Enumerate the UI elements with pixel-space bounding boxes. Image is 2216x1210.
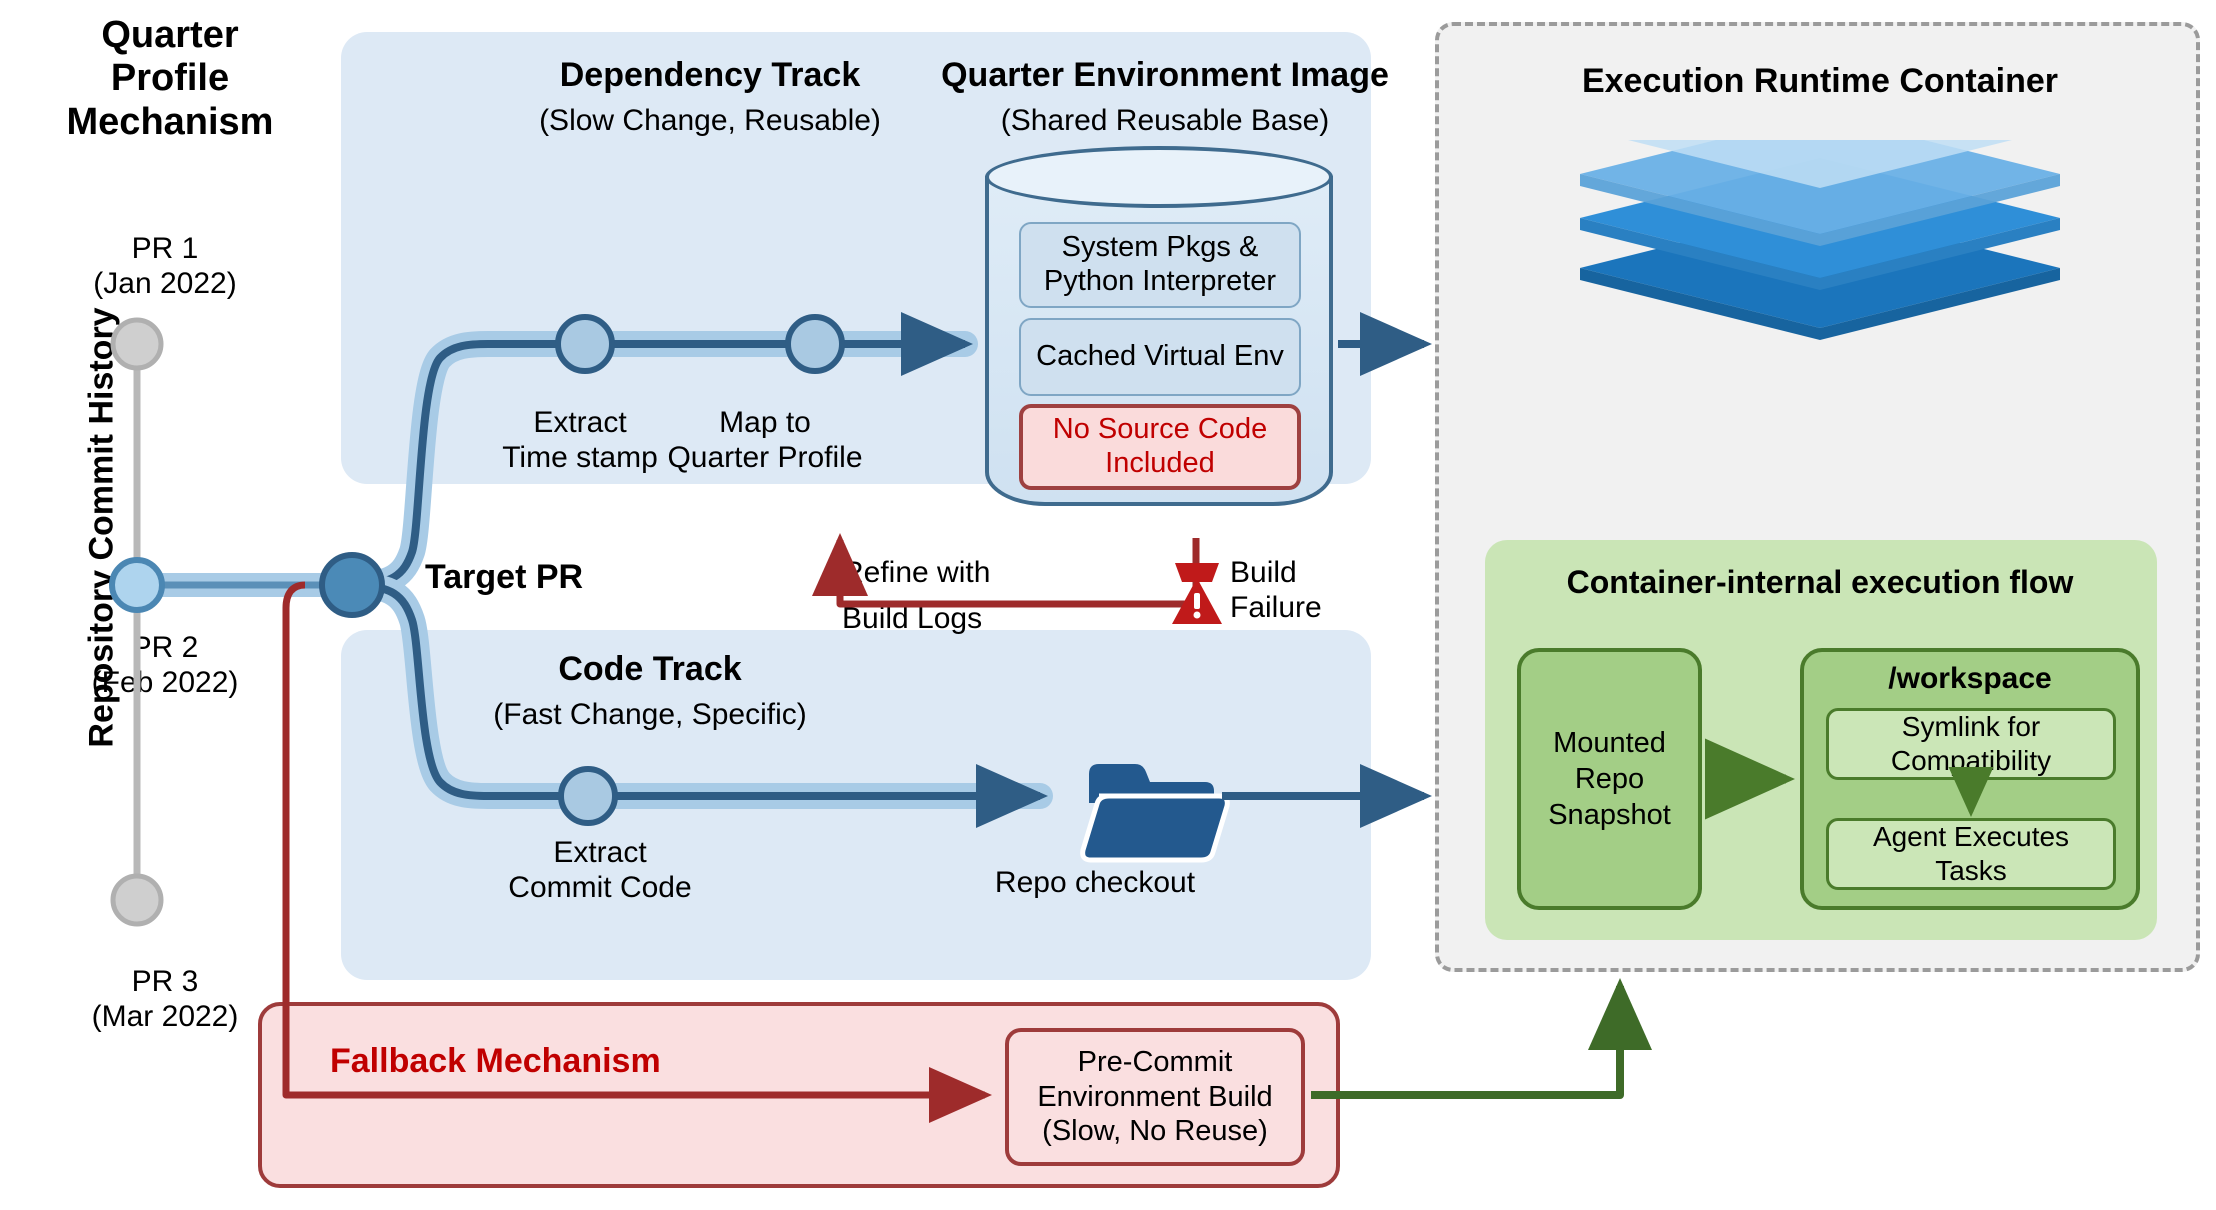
workspace-item-line-1: Agent Executes <box>1873 820 2069 854</box>
code-track-subtitle: (Fast Change, Specific) <box>420 698 880 732</box>
stacked-layers-icon <box>1560 140 2080 390</box>
target-pr-node <box>322 555 382 615</box>
workspace-item-line-1: Symlink for <box>1891 710 2051 744</box>
workspace-item-symlink: Symlink for Compatibility <box>1826 708 2116 780</box>
repo-checkout-label: Repo checkout <box>925 866 1265 901</box>
cylinder-item-line-1: No Source Code <box>1053 413 1267 447</box>
fallback-to-runtime-arrow <box>1311 986 1620 1095</box>
page-title: Quarter Profile Mechanism <box>30 14 310 144</box>
node-label-line-2: Commit Code <box>470 871 730 906</box>
execution-runtime-container-title: Execution Runtime Container <box>1480 62 2160 101</box>
page-title-line-1: Quarter <box>30 14 310 57</box>
workspace-item-line-2: Compatibility <box>1891 744 2051 778</box>
pre-commit-environment-build-box: Pre-Commit Environment Build (Slow, No R… <box>1005 1028 1305 1166</box>
commit-label-pr-2: PR 2 (Feb 2022) <box>35 631 295 701</box>
dependency-track-subtitle: (Slow Change, Reusable) <box>440 104 980 138</box>
page-title-line-2: Profile <box>30 57 310 100</box>
mounted-line-2: Repo <box>1548 761 1671 797</box>
node-label-map-to-quarter-profile: Map to Quarter Profile <box>620 406 910 476</box>
commit-name-pr-1: PR 1 <box>35 232 295 267</box>
dependency-track-title: Dependency Track <box>450 56 970 95</box>
node-label-line-1: Map to <box>620 406 910 441</box>
workspace-item-line-2: Tasks <box>1873 854 2069 888</box>
commit-name-pr-2: PR 2 <box>35 631 295 666</box>
cylinder-item-no-source-code: No Source Code Included <box>1019 404 1301 490</box>
pre-commit-line-3: (Slow, No Reuse) <box>1037 1114 1272 1149</box>
page-title-line-3: Mechanism <box>30 101 310 144</box>
refine-loop-label-line-2: Build Logs <box>842 602 982 636</box>
target-pr-label: Target PR <box>425 558 583 597</box>
node-label-line-1: Extract <box>470 836 730 871</box>
cylinder-top-ellipse <box>985 146 1333 208</box>
pre-commit-line-2: Environment Build <box>1037 1080 1272 1115</box>
refine-loop-label-line-1: Refine with <box>842 556 990 590</box>
workspace-title: /workspace <box>1800 662 2140 696</box>
node-label-line-2: Quarter Profile <box>620 441 910 476</box>
commit-name-pr-3: PR 3 <box>35 965 295 1000</box>
cylinder-item-line-1: Cached Virtual Env <box>1036 340 1284 374</box>
cylinder-item-line-2: Python Interpreter <box>1044 265 1276 299</box>
container-internal-execution-flow-title: Container-internal execution flow <box>1495 564 2145 601</box>
build-failure-label: Build Failure <box>1230 556 1370 626</box>
quarter-environment-image-cylinder: System Pkgs & Python Interpreter Cached … <box>985 146 1335 536</box>
code-track-title: Code Track <box>460 650 840 689</box>
cylinder-item-line-2: Included <box>1053 447 1267 481</box>
commit-date-pr-1: (Jan 2022) <box>35 267 295 302</box>
quarter-environment-image-title: Quarter Environment Image <box>910 56 1420 95</box>
cylinder-item-cached-virtual-env: Cached Virtual Env <box>1019 318 1301 396</box>
warning-triangle-icon <box>1172 563 1222 624</box>
fallback-mechanism-label: Fallback Mechanism <box>330 1042 661 1081</box>
workspace-item-agent-executes: Agent Executes Tasks <box>1826 818 2116 890</box>
cylinder-item-system-pkgs: System Pkgs & Python Interpreter <box>1019 222 1301 308</box>
quarter-environment-image-subtitle: (Shared Reusable Base) <box>910 104 1420 138</box>
node-label-extract-commit-code: Extract Commit Code <box>470 836 730 906</box>
commit-label-pr-1: PR 1 (Jan 2022) <box>35 232 295 302</box>
commit-date-pr-3: (Mar 2022) <box>35 1000 295 1035</box>
mounted-line-1: Mounted <box>1548 725 1671 761</box>
commit-node-pr-3 <box>113 876 161 924</box>
mounted-repo-snapshot-box: Mounted Repo Snapshot <box>1517 648 1702 910</box>
commit-label-pr-3: PR 3 (Mar 2022) <box>35 965 295 1035</box>
pre-commit-line-1: Pre-Commit <box>1037 1045 1272 1080</box>
build-failure-line-2: Failure <box>1230 591 1370 626</box>
mounted-line-3: Snapshot <box>1548 797 1671 833</box>
cylinder-item-line-1: System Pkgs & <box>1044 231 1276 265</box>
commit-date-pr-2: (Feb 2022) <box>35 666 295 701</box>
build-failure-line-1: Build <box>1230 556 1370 591</box>
